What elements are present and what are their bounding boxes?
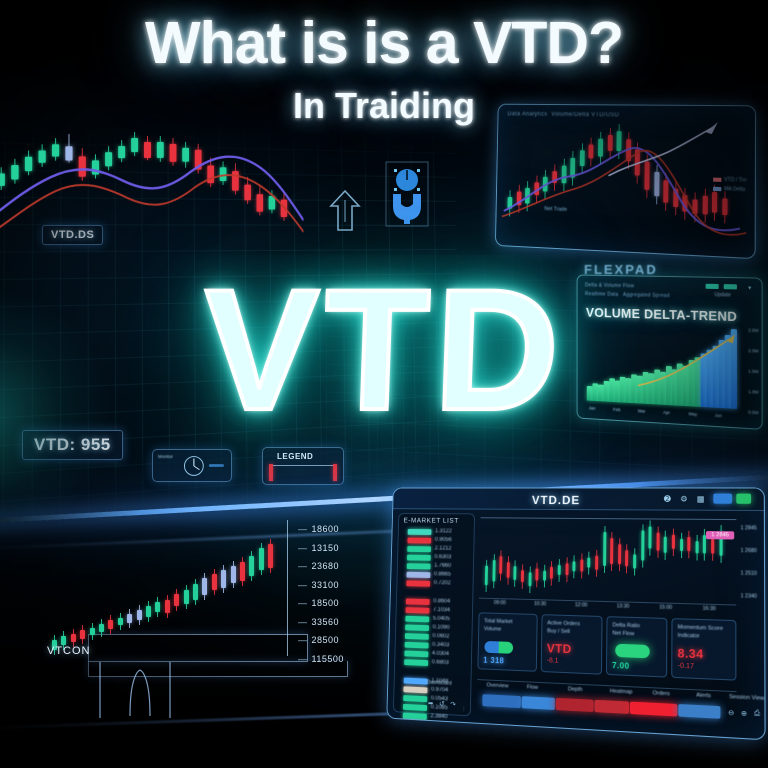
candle [165,600,170,613]
candle-wick [223,565,224,593]
sidebar-row[interactable]: 1.3122 [408,529,474,535]
gauge-widget[interactable]: Monitor [152,449,232,482]
dashboard-y-tick: 1 2845 [741,525,757,531]
candle-wick [650,520,651,555]
candle-wick [642,524,643,567]
sidebar-row-swatch [404,650,428,657]
sidebar-row-value: 0.8665 [434,571,451,577]
sidebar-row[interactable]: 0.8665 [407,572,473,579]
axis-tick-label: 18500 [298,598,339,608]
candle-wick [657,527,658,558]
candle [146,606,151,617]
sidebar-row-swatch [403,695,427,702]
heatmap-segment[interactable] [595,700,629,714]
candle-wick [529,566,530,593]
dashboard-y-tick: 1 2340 [741,593,757,600]
page-title: What is is a VTD? [0,14,768,73]
candle [672,535,675,549]
sidebar-row-swatch [406,580,430,586]
footer-tab[interactable]: Orders [653,690,670,697]
sidebar-row-swatch [407,538,431,544]
legend-widget[interactable]: LEGEND [262,447,344,485]
axis-tick-label: 115500 [298,654,344,664]
dashboard-panel[interactable]: VTD.DE ➋ ⚙ ▦ E-MARKET LIST 1.31220.90562… [386,487,765,740]
candle-wick [270,539,271,573]
candle-wick [242,557,243,586]
candle-wick [493,554,495,588]
candle [656,533,659,551]
candle-wick [101,619,102,637]
stat-card-title: Active OrdersBuy / Sell [547,619,580,636]
sidebar-row[interactable]: 0.6803 [404,659,471,668]
candle [558,565,561,575]
sidebar-row[interactable]: 0.8604 [406,599,472,607]
stat-card[interactable]: Active OrdersBuy / SellVTD-8.1 [541,614,603,675]
sidebar-row-value: 0.7202 [434,580,451,586]
sidebar-row[interactable]: 5.0405 [405,616,472,624]
sidebar-row-swatch [408,529,432,535]
stat-card[interactable]: Momentum ScoreIndicator8.34-0.17 [671,618,736,681]
candle-wick [167,595,168,618]
candle [184,590,189,604]
stat-card-toggle[interactable] [484,641,513,654]
sidebar-row-swatch [405,642,429,649]
candle [536,569,539,581]
candle [499,556,502,574]
candle [625,550,628,566]
chart-bottom-left: 1860013150236803310018500335602850011550… [40,520,330,660]
sidebar-row[interactable]: 0.1090 [405,624,472,632]
sidebar-row-value: 0.9056 [435,537,452,543]
grid-icon[interactable]: ▦ [697,495,705,504]
candle-wick [634,548,635,575]
sidebar-heading: E-MARKET LIST [403,518,458,525]
candle-wick [139,605,140,625]
candle [137,610,142,620]
gauge-dial-icon [153,450,231,481]
candle-wick [507,556,508,584]
sidebar-row[interactable]: 1.7660 [407,563,473,570]
axis-tick-label: 23680 [298,561,339,571]
poster-canvas: What is is a VTD? In Traiding VTD.DS Dat… [0,0,768,768]
up-arrow-icon[interactable] [328,188,362,234]
candle [108,620,113,629]
hero-neon-label: VTD [200,264,568,436]
dashboard-x-tick: 16:30 [703,606,716,613]
stat-card-subvalue: -8.1 [547,657,559,665]
title-block: What is is a VTD? In Traiding [0,14,768,127]
candle [528,572,531,586]
heatmap-segment[interactable] [678,704,720,719]
dashboard-x-tick: 09:00 [494,600,506,606]
cursor-icon[interactable]: ➋ [664,494,671,503]
sidebar-row[interactable]: 4.0304 [404,650,471,659]
candle [550,567,553,579]
sidebar-row[interactable]: 7.1034 [406,607,472,615]
candle [259,548,264,570]
candle [127,614,132,623]
sidebar-row[interactable]: 0.6303 [407,555,473,562]
stat-card[interactable]: Delta RatioNet Flow7.00 [606,616,667,677]
dashboard-x-tick: 12:00 [575,602,587,608]
candle [618,544,621,564]
sidebar-row[interactable]: 0.9056 [407,538,473,545]
sidebar-row-value: 0.9704 [431,687,448,694]
stat-card-pill[interactable] [615,644,650,659]
sidebar-row[interactable]: 0.1085 [403,704,470,714]
stat-card-subvalue: -0.17 [677,663,694,671]
candle-wick [500,550,502,580]
stat-card[interactable]: Total MarketVolume1 318 [477,612,537,672]
candle [221,570,226,588]
candle [680,539,683,551]
sidebar-row-value: 7.1034 [433,607,450,613]
candle-wick [573,555,574,578]
candle [118,618,123,625]
footer-tab[interactable]: Heatmap [610,688,633,695]
stat-card-title: Momentum ScoreIndicator [678,623,723,641]
candle [231,566,236,583]
sidebar-row-value: 4.0304 [432,651,449,658]
label-vtcon: VTCON [47,645,91,657]
stat-card-value: 1 318 [483,656,504,666]
dashboard-x-tick: 13:30 [617,603,630,609]
sidebar-row-swatch [405,633,429,640]
sidebar-row[interactable]: 0.9704 [403,686,470,695]
legend-bar-right [333,464,337,481]
candle-wick [486,560,488,592]
heatmap-segment[interactable] [522,696,555,710]
dashboard-price-tag[interactable]: 1 2845 [706,531,734,539]
page-subtitle: In Traiding [0,85,768,127]
footer-tab[interactable]: Alerts [696,692,711,699]
axis-tick-label: 33100 [298,580,339,590]
candle [71,634,76,642]
candle [268,544,273,568]
candle-wick [681,533,682,558]
candle-wick [515,560,516,586]
hero-neon-text: VTD [0,264,768,436]
stat-card-value: 7.00 [612,661,629,671]
sidebar-row[interactable]: 0.3403 [405,642,472,650]
candle [240,562,245,581]
candle-wick [581,554,582,579]
footer-tabs: OverviewFlowDepthHeatmapOrdersAlerts [477,680,736,692]
legend-rule [273,465,333,466]
sidebar-row-swatch [404,659,428,666]
candle [521,570,524,582]
candle-wick [176,589,177,611]
candle [565,563,568,575]
candle-wick [157,597,158,617]
candle [514,566,517,580]
sidebar-row-value: 2.1212 [435,546,452,552]
candle-wick [566,557,567,582]
candle [610,538,613,564]
sidebar-row[interactable]: 0.7202 [406,580,472,587]
footer-tab[interactable]: Overview [486,682,508,689]
candle-wick [214,569,215,595]
sidebar-row[interactable]: 2.1212 [407,546,473,553]
candle-wick [251,551,252,581]
candle [249,556,254,576]
status-pill-blue[interactable] [713,494,732,504]
zoom-out-icon[interactable]: ⊖ [728,709,734,718]
sidebar-row-swatch [405,624,429,631]
sidebar-row[interactable]: 0.0543 [403,695,470,704]
sidebar-row-swatch [406,607,430,613]
axis-tick-label: 18600 [298,524,339,534]
candle [155,602,160,612]
candle-wick [673,529,674,556]
sidebar-row-value: 1.7660 [434,563,451,569]
candle [485,566,488,586]
axis-tick-label: 28500 [298,635,339,645]
print-icon[interactable]: ⎙ [754,710,760,719]
candle-wick [696,535,697,560]
sidebar-row-value: 0.6803 [432,659,449,666]
footer-tab[interactable]: Flow [527,684,538,691]
dashboard-y-tick: 1 2510 [741,570,757,577]
candle [649,526,652,548]
sidebar-row-value: 0.1090 [433,624,450,630]
dashboard-y-tick: 1 2680 [741,548,757,554]
dashboard-title: VTD.DE [532,493,581,507]
candle-wick [261,543,262,575]
candle-wick [619,538,620,571]
heatmap-segment[interactable] [630,702,677,717]
candle-wick [186,585,187,609]
candle-wick [596,550,597,577]
dashboard-x-tick: 15:00 [659,604,672,610]
stat-card-title: Delta RatioNet Flow [612,621,640,638]
status-pill-green[interactable] [736,494,751,504]
candle-wick [148,601,149,622]
sidebar-row-value: 0.0602 [432,633,449,639]
sidebar-row-value: 0.8604 [433,598,450,604]
dashboard-y-axis: 1 28451 26801 25101 2340 [736,517,765,607]
candle-wick [688,531,689,558]
sidebar-more-icon[interactable]: ⋮ [461,706,466,712]
candle-wick [589,552,590,575]
candle [664,537,667,553]
candle [573,561,576,571]
axis-tick-label: 13150 [298,543,339,553]
toggle-on-half [499,641,514,653]
sidebar-row-swatch [407,546,431,552]
sidebar-row-value: 0.6303 [434,554,451,560]
panel-top-right-footnote: Net Trade [544,206,567,213]
candle [633,554,636,568]
legend-item: MA Delta [713,185,747,195]
heatmap-segment[interactable] [556,698,594,712]
candle [99,624,104,632]
sidebar-row-swatch [403,713,427,720]
candle-wick [204,573,205,600]
candle [90,628,95,635]
axis-tick-label: 33560 [298,617,339,627]
candle [193,584,198,600]
candle [687,537,690,551]
footer-note: Session View [729,694,764,702]
candle-wick [611,532,612,571]
candle-wick [604,526,605,573]
toggle-off-half [484,641,498,653]
footer-heatmap[interactable] [477,680,736,692]
candle [506,562,509,578]
legend-top-right: VTD / Trn MA Delta [713,175,747,195]
dashboard-x-tick: 10:30 [534,601,546,607]
stat-card-value: 8.34 [678,646,704,661]
refresh-icon[interactable]: ↺ [439,700,445,708]
sidebar-row-value: 0.3403 [432,642,449,648]
bottom-left-axis-line [287,520,288,656]
candle [174,594,179,606]
candle [80,630,85,639]
candle [61,636,66,645]
candle [588,558,591,568]
candle [543,571,546,581]
sidebar-row-swatch [405,616,429,623]
candle-wick [129,609,130,628]
candle-wick [551,561,552,586]
dashboard-footer: OverviewFlowDepthHeatmapOrdersAlerts ➦ ↺… [476,679,736,733]
dashboard-topbar: VTD.DE ➋ ⚙ ▦ [393,488,764,511]
sidebar-row-swatch [403,704,427,711]
gear-icon[interactable]: ⚙ [680,495,687,504]
panel-top-right-chart[interactable]: Data Analytics Volume/Delta VTD/USD VTD … [495,104,756,260]
candle-wick [665,531,666,560]
legend-widget-label: LEGEND [277,452,313,461]
share-icon[interactable]: ➦ [428,699,434,707]
sidebar-row-swatch [407,555,431,561]
candle-wick [536,563,537,588]
dashboard-chart[interactable]: 1 2845 1 28451 26801 25101 2340 09:0010:… [479,515,736,605]
candle-wick [233,561,234,588]
candle [492,560,495,581]
candle [595,556,598,570]
dashboard-candles [479,515,736,604]
candle [695,541,698,553]
sidebar-row-swatch [407,563,431,569]
candle-wick [82,625,83,644]
magnet-icon[interactable] [384,160,430,228]
footer-tab[interactable]: Depth [568,686,583,693]
stat-card-title: Total MarketVolume [484,617,513,634]
candle [603,532,606,566]
zoom-in-icon[interactable]: ⊕ [741,709,747,718]
candle-wick [120,613,121,630]
candle [641,530,644,560]
sidebar-row-value: 5.0405 [433,616,450,622]
candle-wick [559,559,560,582]
export-icon[interactable]: ↷ [450,700,456,708]
legend-bar-left [269,464,273,481]
candle [202,578,207,595]
candle-wick [195,579,196,605]
candle-wick [626,544,627,573]
stat-card-value: VTD [547,641,572,656]
candle [711,539,714,553]
sidebar-row-value: 1.3122 [435,528,452,534]
footer-label-left: Dashboard [427,680,452,687]
candle-wick [544,565,545,588]
sidebar-row[interactable]: 0.0602 [405,633,472,641]
sidebar-row-value: 2.3840 [430,713,447,720]
candle [580,559,583,571]
sidebar-row-swatch [407,572,431,578]
sidebar-row-swatch [403,686,427,693]
sidebar-row-swatch [406,599,430,605]
wireframe-legs [96,662,276,720]
candle-wick [92,623,93,640]
sidebar-row-swatch [404,678,428,685]
heatmap-segment[interactable] [482,694,521,708]
candle-wick [110,615,111,634]
candle [212,574,217,590]
candle-wick [522,564,523,589]
